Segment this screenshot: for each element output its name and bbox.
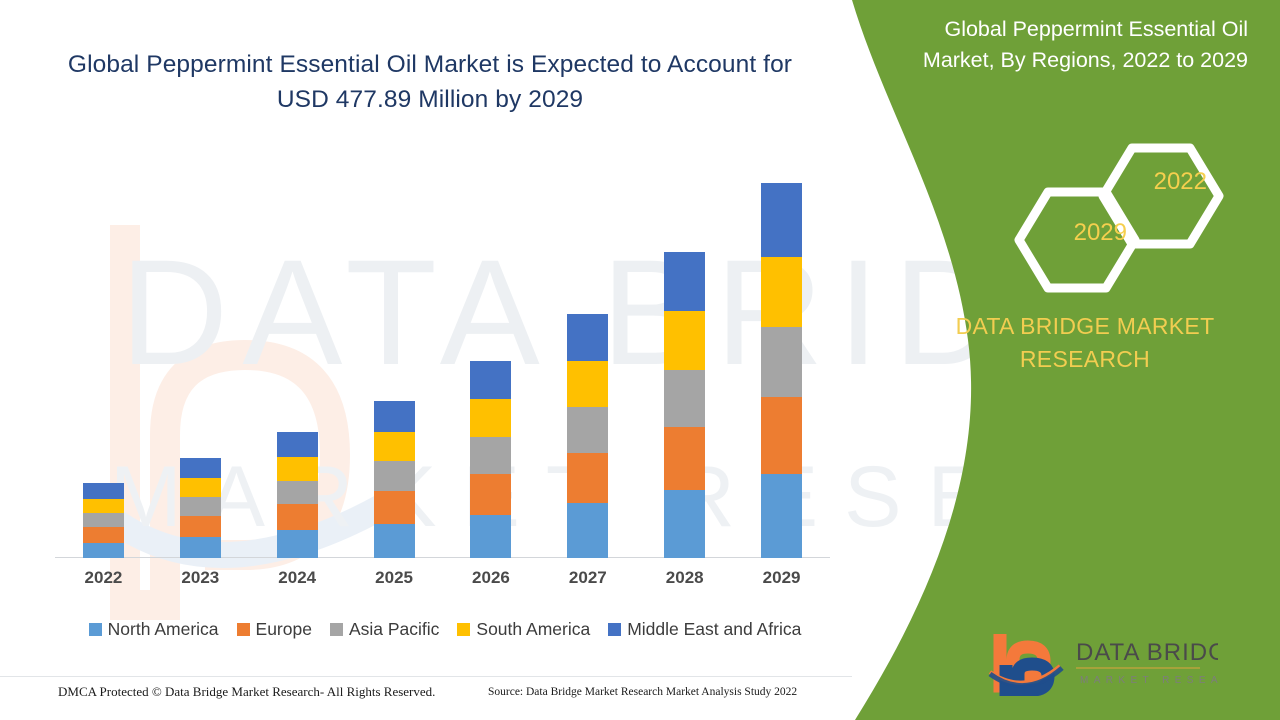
legend-label: South America bbox=[476, 619, 590, 640]
bar-segment bbox=[470, 361, 511, 399]
bar-segment bbox=[374, 524, 415, 558]
bar-segment bbox=[374, 401, 415, 432]
x-axis-label: 2023 bbox=[152, 568, 249, 588]
bar-segment bbox=[761, 474, 802, 558]
right-green-panel: Global Peppermint Essential Oil Market, … bbox=[810, 0, 1280, 720]
bar-group bbox=[636, 252, 733, 558]
legend-label: North America bbox=[108, 619, 219, 640]
bar-group bbox=[539, 314, 636, 558]
bar-segment bbox=[83, 513, 124, 527]
legend-item[interactable]: Middle East and Africa bbox=[608, 619, 801, 640]
legend-item[interactable]: North America bbox=[89, 619, 219, 640]
bar-segment bbox=[470, 399, 511, 436]
legend-swatch bbox=[89, 623, 102, 636]
bar-segment bbox=[83, 543, 124, 558]
footer-divider bbox=[0, 676, 852, 677]
stacked-bar bbox=[180, 458, 221, 558]
footer-copyright: DMCA Protected © Data Bridge Market Rese… bbox=[58, 684, 435, 700]
bar-segment bbox=[664, 370, 705, 427]
infographic-root: DATA BRIDGE MARKET RESEARCH Global Peppe… bbox=[0, 0, 1280, 720]
footer-source: Source: Data Bridge Market Research Mark… bbox=[488, 686, 797, 698]
bar-segment bbox=[277, 530, 318, 558]
x-axis-label: 2027 bbox=[539, 568, 636, 588]
bar-segment bbox=[567, 361, 608, 407]
bar-segment bbox=[567, 503, 608, 558]
x-axis-label: 2024 bbox=[249, 568, 346, 588]
x-axis-labels: 20222023202420252026202720282029 bbox=[55, 568, 830, 596]
bar-segment bbox=[567, 314, 608, 361]
hexagon-label-end: 2029 bbox=[1074, 219, 1127, 247]
chart-legend: North AmericaEuropeAsia PacificSouth Ame… bbox=[55, 616, 835, 642]
bar-segment bbox=[180, 516, 221, 537]
brand-line-1: DATA BRIDGE MARKET bbox=[920, 310, 1250, 343]
legend-swatch bbox=[457, 623, 470, 636]
bar-segment bbox=[470, 437, 511, 474]
legend-label: Asia Pacific bbox=[349, 619, 439, 640]
bar-group bbox=[152, 458, 249, 558]
bar-segment bbox=[180, 537, 221, 558]
bar-segment bbox=[664, 490, 705, 558]
stacked-bar bbox=[83, 483, 124, 558]
bar-segment bbox=[83, 527, 124, 542]
stacked-bar bbox=[567, 314, 608, 558]
bar-segment bbox=[470, 474, 511, 515]
stacked-bar bbox=[277, 432, 318, 558]
bar-segment bbox=[277, 504, 318, 530]
page-title: Global Peppermint Essential Oil Market i… bbox=[60, 48, 800, 118]
legend-swatch bbox=[237, 623, 250, 636]
bar-segment bbox=[180, 458, 221, 478]
bar-segment bbox=[664, 427, 705, 490]
bar-group bbox=[443, 361, 540, 558]
bar-segment bbox=[180, 478, 221, 497]
x-axis-label: 2022 bbox=[55, 568, 152, 588]
bar-group bbox=[55, 483, 152, 558]
bar-segment bbox=[664, 311, 705, 369]
stacked-bar bbox=[470, 361, 511, 558]
bar-segment bbox=[761, 327, 802, 397]
legend-item[interactable]: Asia Pacific bbox=[330, 619, 439, 640]
bar-group bbox=[249, 432, 346, 558]
stacked-bar bbox=[374, 401, 415, 558]
data-bridge-logo: DATA BRIDGE MARKET RESEARCH bbox=[988, 630, 1218, 696]
legend-swatch bbox=[330, 623, 343, 636]
bar-segment bbox=[470, 515, 511, 558]
stacked-bar bbox=[761, 183, 802, 558]
bar-segment bbox=[761, 183, 802, 257]
x-axis-label: 2025 bbox=[346, 568, 443, 588]
legend-swatch bbox=[608, 623, 621, 636]
bar-segment bbox=[83, 483, 124, 498]
bar-segment bbox=[180, 497, 221, 516]
bar-segment bbox=[277, 432, 318, 457]
bar-segment bbox=[761, 257, 802, 328]
bar-segment bbox=[761, 397, 802, 474]
svg-text:DATA BRIDGE: DATA BRIDGE bbox=[1076, 639, 1218, 666]
bar-segment bbox=[277, 481, 318, 505]
bar-group bbox=[346, 401, 443, 558]
x-axis-label: 2026 bbox=[443, 568, 540, 588]
legend-item[interactable]: South America bbox=[457, 619, 590, 640]
panel-title: Global Peppermint Essential Oil Market, … bbox=[918, 14, 1248, 75]
bar-segment bbox=[567, 453, 608, 504]
bar-segment bbox=[567, 407, 608, 453]
legend-item[interactable]: Europe bbox=[237, 619, 312, 640]
brand-line-2: RESEARCH bbox=[920, 343, 1250, 376]
bar-segment bbox=[277, 457, 318, 481]
stacked-bar bbox=[664, 252, 705, 558]
brand-text: DATA BRIDGE MARKET RESEARCH bbox=[920, 310, 1250, 375]
legend-label: Europe bbox=[256, 619, 312, 640]
bar-segment bbox=[664, 252, 705, 311]
svg-text:MARKET RESEARCH: MARKET RESEARCH bbox=[1080, 675, 1218, 686]
bar-segment bbox=[374, 461, 415, 491]
legend-label: Middle East and Africa bbox=[627, 619, 801, 640]
bar-segment bbox=[374, 491, 415, 524]
bar-segment bbox=[374, 432, 415, 462]
stacked-bar-chart bbox=[55, 160, 830, 558]
x-axis-label: 2028 bbox=[636, 568, 733, 588]
hexagon-label-start: 2022 bbox=[1154, 168, 1207, 196]
bar-segment bbox=[83, 499, 124, 513]
